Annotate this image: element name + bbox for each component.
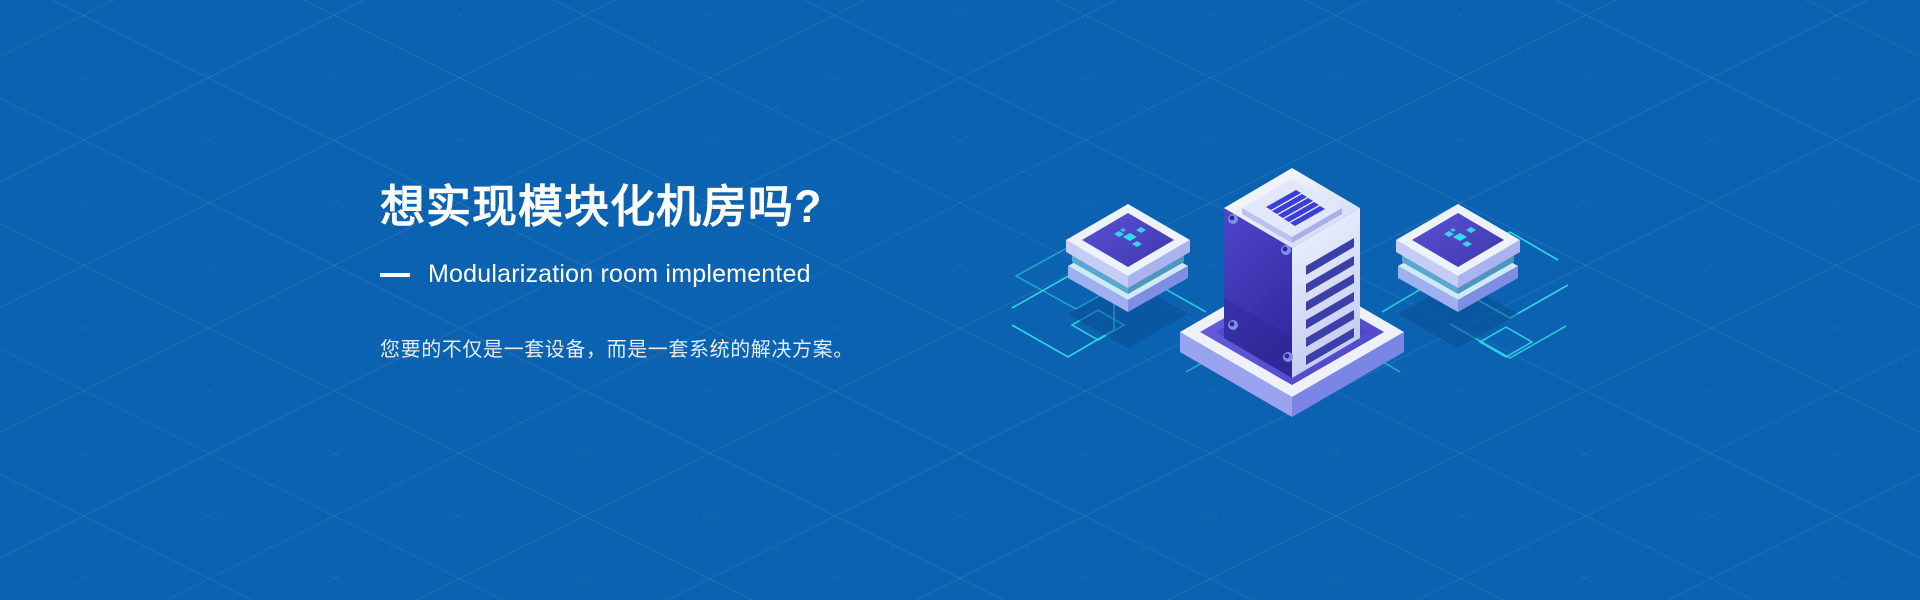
divider-dash-icon (380, 273, 410, 277)
subtitle-row: Modularization room implemented (380, 260, 1020, 289)
chip-module-left (1066, 204, 1190, 348)
hero-banner: 想实现模块化机房吗? Modularization room implement… (0, 0, 1920, 600)
server-tower (1224, 168, 1360, 378)
isometric-server-illustration (1010, 80, 1570, 420)
page-subtitle: Modularization room implemented (428, 260, 811, 289)
page-title: 想实现模块化机房吗? (380, 180, 1020, 234)
body-text: 您要的不仅是一套设备，而是一套系统的解决方案。 (380, 333, 1020, 362)
chip-module-right (1396, 204, 1520, 348)
hero-text-block: 想实现模块化机房吗? Modularization room implement… (380, 180, 1020, 382)
